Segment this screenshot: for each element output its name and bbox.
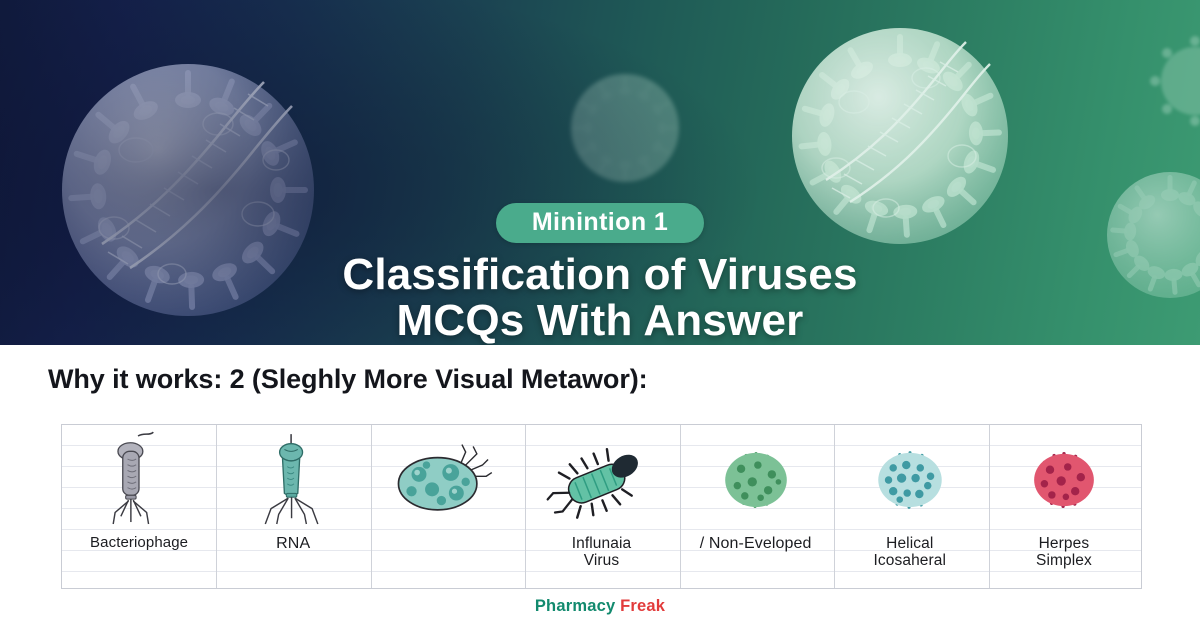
page-title: Classification of Viruses MCQs With Answ… xyxy=(0,252,1200,344)
table-cell-bacteriophage: Bacteriophage xyxy=(62,425,216,588)
table-cell-helical-icosahedral: HelicalIcosaheral xyxy=(833,425,987,588)
virus-types-table: Bacteriophage xyxy=(61,424,1142,589)
brand-name-primary: Pharmacy xyxy=(535,597,615,615)
table-cell-rna: RNA xyxy=(216,425,370,588)
cell-label-non-enveloped: / Non-Eveloped xyxy=(700,535,812,553)
cell-label-rna: RNA xyxy=(276,535,310,553)
cell-label-influenza: InflunaiaVirus xyxy=(572,535,632,570)
page-title-line2: MCQs With Answer xyxy=(0,298,1200,344)
herpes-virus-icon xyxy=(987,425,1141,535)
cell-label-helical-icosahedral: HelicalIcosaheral xyxy=(874,535,947,570)
cell-label-bacteriophage: Bacteriophage xyxy=(90,535,188,552)
hero-badge: Minintion 1 xyxy=(496,203,704,243)
brand-name-secondary: Freak xyxy=(620,597,665,615)
brand-footer: Pharmacy Freak xyxy=(0,597,1200,616)
hero-text-block: Minintion 1 Classification of Viruses MC… xyxy=(0,203,1200,344)
poster-page: Minintion 1 Classification of Viruses MC… xyxy=(0,0,1200,628)
spiked-blob-virus-icon xyxy=(370,425,524,535)
table-cell-non-enveloped: / Non-Eveloped xyxy=(679,425,833,588)
table-cell-spiked-blob xyxy=(370,425,524,588)
cell-label-herpes-simplex: HerpesSimplex xyxy=(1036,535,1092,570)
rod-shaped-virus-icon xyxy=(524,425,678,535)
section-subtitle: Why it works: 2 (Sleghly More Visual Met… xyxy=(48,364,648,395)
virus-particle-mid-icon xyxy=(545,48,705,208)
hero-banner: Minintion 1 Classification of Viruses MC… xyxy=(0,0,1200,345)
rna-phage-icon xyxy=(216,425,370,535)
enveloped-virus-icon xyxy=(679,425,833,535)
virus-particle-tiny-icon xyxy=(1140,26,1200,136)
page-title-line1: Classification of Viruses xyxy=(342,250,857,299)
icosahedral-virus-icon xyxy=(833,425,987,535)
table-cell-herpes-simplex: HerpesSimplex xyxy=(987,425,1141,588)
table-cell-influenza: InflunaiaVirus xyxy=(524,425,678,588)
bacteriophage-icon xyxy=(62,425,216,535)
